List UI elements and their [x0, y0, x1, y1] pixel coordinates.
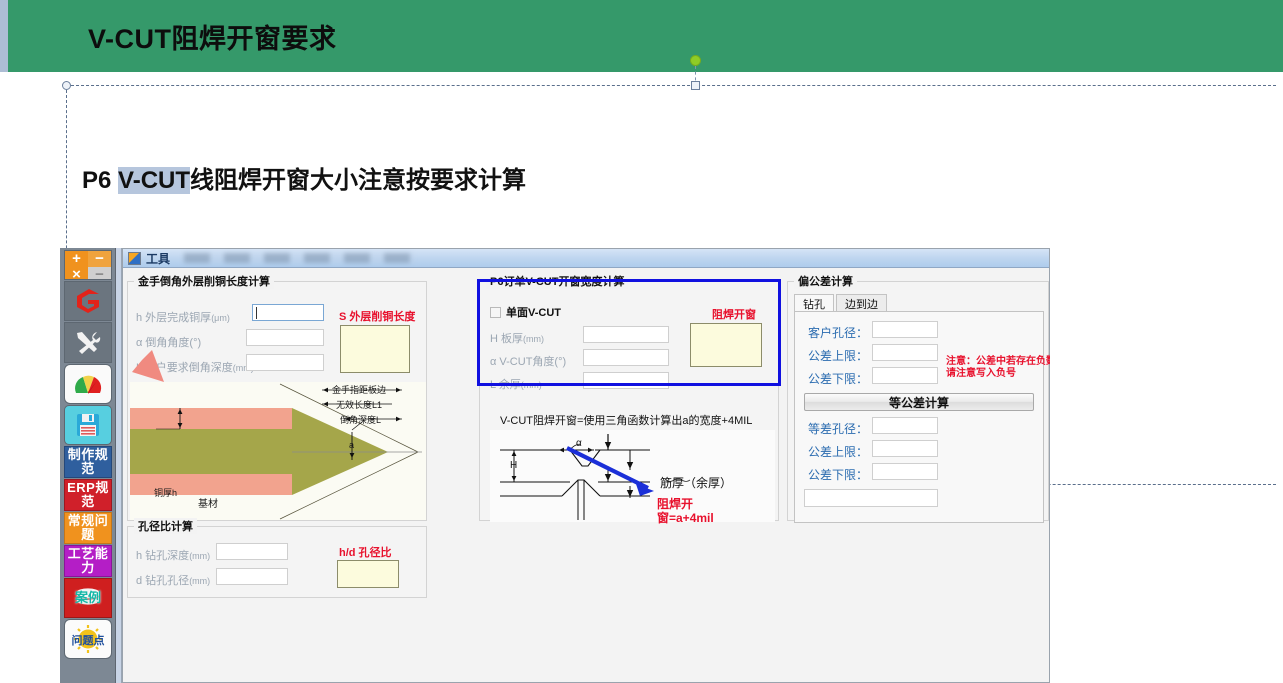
pink-pointer-arrow: [108, 330, 178, 388]
sidebar-item-label: 工艺能力: [65, 547, 111, 574]
input-chamfer-angle[interactable]: [246, 329, 324, 346]
vcut-red-annotation: 阻焊开 窗=a+4mil: [657, 498, 714, 526]
tool-window: 工具 金手倒角外层削铜长度计算 h 外层完成铜厚(μm) α 倒角角度(°) L…: [122, 248, 1050, 683]
slide-subtitle: P6 V-CUT线阻焊开窗大小注意按要求计算: [82, 160, 526, 195]
input-equal-tolerance-upper[interactable]: [872, 440, 938, 457]
sidebar-item-gauge[interactable]: [64, 364, 112, 404]
checkbox-single-sided-vcut-label: 单面V-CUT: [506, 304, 561, 320]
sidebar-item-label: 常规问题: [65, 514, 111, 541]
result-label-solder-mask-opening: 阻焊开窗: [712, 306, 756, 322]
vcut-red-line-2: 窗=a+4mil: [657, 512, 714, 526]
input-equal-tolerance-lower[interactable]: [872, 463, 938, 480]
checkbox-icon[interactable]: [490, 307, 501, 318]
sidebar-item-label: ERP规范: [65, 481, 111, 508]
calc-plus-glyph: +: [65, 251, 88, 267]
group-tolerance-calculation: 偏公差计算 钻孔 边到边 客户孔径： 公差上限： 公差下限：: [787, 281, 1049, 521]
gauge-icon: [73, 370, 103, 398]
input-drill-depth[interactable]: [216, 543, 288, 560]
diagram-label-edge-distance: 金手指距板边: [332, 383, 386, 396]
sidebar-item-common-issues[interactable]: 常规问题: [64, 512, 112, 544]
sidebar-item-label: 制作规范: [65, 448, 111, 475]
result-box-aperture-ratio: [337, 560, 399, 588]
field-label-equal-tolerance-lower: 公差下限：: [808, 466, 868, 483]
input-remaining-thickness[interactable]: [583, 372, 669, 389]
result-label-copper-removal-length: S 外层削铜长度: [339, 308, 415, 324]
sidebar-item-erp-spec[interactable]: ERP规范: [64, 479, 112, 511]
slide-left-edge-strip: [0, 0, 8, 72]
page-title: V-CUT阻焊开窗要求: [88, 17, 337, 56]
floppy-disk-icon: [74, 411, 102, 439]
group-legend: P6订单V-CUT开窗宽度计算: [486, 273, 628, 289]
input-chamfer-depth[interactable]: [246, 354, 324, 371]
input-equal-hole-diameter[interactable]: [872, 417, 938, 434]
selection-outline-top: [66, 85, 1276, 86]
field-label-equal-hole-diameter: 等差孔径：: [808, 420, 868, 437]
tab-edge-to-edge[interactable]: 边到边: [836, 294, 887, 311]
diagram-label-chamfer-depth: 倒角深度L: [340, 413, 381, 426]
input-drill-diameter[interactable]: [216, 568, 288, 585]
g-logo-icon: [73, 287, 103, 315]
tool-window-body: 金手倒角外层削铜长度计算 h 外层完成铜厚(μm) α 倒角角度(°) L 客户…: [123, 268, 1049, 682]
field-label-board-thickness: H 板厚(mm): [490, 330, 544, 346]
calc-minus-glyph: −: [88, 251, 111, 267]
tab-drilling[interactable]: 钻孔: [794, 294, 834, 311]
selection-handle-top-center[interactable]: [691, 81, 700, 90]
group-legend: 金手倒角外层削铜长度计算: [134, 273, 274, 289]
sidebar-item-tools[interactable]: [64, 322, 112, 363]
calculator-icon: + − × −: [65, 251, 111, 279]
vcut-angle-label: α: [576, 438, 582, 449]
vcut-rib-thickness-label: 筋厚（余厚）: [660, 474, 732, 491]
tool-window-title: 工具: [146, 250, 170, 267]
sidebar-item-problem-points[interactable]: 问题点: [64, 619, 112, 659]
tools-icon: [73, 329, 103, 357]
input-vcut-angle[interactable]: [583, 349, 669, 366]
input-customer-hole-diameter[interactable]: [872, 321, 938, 338]
result-box-copper-removal-length: [340, 325, 410, 373]
vcut-formula-text: V-CUT阻焊开窗=使用三角函数计算出a的宽度+4MIL: [500, 412, 752, 428]
app-icon: [128, 252, 141, 265]
field-label-equal-tolerance-upper: 公差上限：: [808, 443, 868, 460]
group-legend: 孔径比计算: [134, 518, 197, 534]
diagram-label-angle-a: a: [349, 440, 354, 450]
group-legend: 偏公差计算: [794, 273, 857, 289]
vcut-section-diagram: [490, 430, 775, 522]
calc-equals-glyph: −: [88, 267, 111, 280]
subtitle-prefix: P6: [82, 167, 118, 194]
sidebar-item-label: 问题点: [72, 636, 105, 648]
calc-times-glyph: ×: [65, 267, 88, 280]
diagram-label-invalid-length: 无效长度L1: [336, 398, 382, 411]
sidebar-item-calculator[interactable]: + − × −: [64, 250, 112, 280]
input-tolerance-lower[interactable]: [872, 367, 938, 384]
field-label-tolerance-lower: 公差下限：: [808, 370, 868, 387]
subtitle-rest: 线阻焊开窗大小注意按要求计算: [190, 167, 526, 194]
rotate-handle[interactable]: [690, 55, 701, 66]
sidebar-item-g-logo[interactable]: [64, 281, 112, 321]
field-label-outer-copper-thickness: h 外层完成铜厚(μm): [136, 309, 230, 325]
sidebar-item-process-capability[interactable]: 工艺能力: [64, 545, 112, 577]
field-label-drill-depth: h 钻孔深度(mm): [136, 547, 210, 563]
result-box-solder-mask-opening: [690, 323, 762, 367]
sidebar-item-make-spec[interactable]: 制作规范: [64, 446, 112, 478]
embedded-application-screenshot: + − × −: [60, 248, 1050, 683]
selection-handle-top-left[interactable]: [62, 81, 71, 90]
tolerance-warning-note: 注意：公差中若存在负数， 请注意写入负号: [946, 356, 1050, 379]
subtitle-highlight: V-CUT: [118, 167, 190, 194]
field-label-vcut-angle: α V-CUT角度(°): [490, 353, 566, 369]
checkbox-single-sided-vcut-row[interactable]: 单面V-CUT: [490, 304, 561, 320]
field-label-tolerance-upper: 公差上限：: [808, 347, 868, 364]
vcut-height-label: H: [510, 460, 517, 471]
equal-tolerance-calculate-button[interactable]: 等公差计算: [804, 393, 1034, 411]
diagram-label-substrate: 基材: [198, 495, 218, 510]
tool-window-titlebar[interactable]: 工具: [123, 249, 1049, 268]
input-tolerance-upper[interactable]: [872, 344, 938, 361]
tolerance-output-field[interactable]: [804, 489, 938, 507]
field-label-remaining-thickness: L 余厚(mm): [490, 376, 542, 392]
tolerance-warning-line-1: 注意：公差中若存在负数，: [946, 356, 1050, 368]
sidebar-item-save[interactable]: [64, 405, 112, 445]
tolerance-warning-line-2: 请注意写入负号: [946, 368, 1050, 380]
input-board-thickness[interactable]: [583, 326, 669, 343]
app-sidebar: + − × −: [60, 248, 116, 683]
vcut-red-line-1: 阻焊开: [657, 498, 714, 512]
sidebar-item-cases[interactable]: 案例: [64, 578, 112, 618]
diagram-label-copper-thickness: 铜厚h: [154, 486, 177, 499]
field-label-customer-hole-diameter: 客户孔径：: [808, 324, 868, 341]
group-gold-finger-chamfer: 金手倒角外层削铜长度计算 h 外层完成铜厚(μm) α 倒角角度(°) L 客户…: [127, 281, 427, 521]
result-label-aperture-ratio: h/d 孔径比: [339, 544, 392, 560]
titlebar-redacted-text: [184, 253, 414, 263]
sidebar-item-label: 案例: [75, 591, 101, 605]
group-aperture-ratio: 孔径比计算 h 钻孔深度(mm) d 钻孔孔径(mm) h/d 孔径比: [127, 526, 427, 598]
input-outer-copper-thickness[interactable]: [252, 304, 324, 321]
group-vcut-window-width: P6订单V-CUT开窗宽度计算 单面V-CUT H 板厚(mm) α V-CUT…: [479, 281, 779, 521]
field-label-drill-diameter: d 钻孔孔径(mm): [136, 572, 210, 588]
